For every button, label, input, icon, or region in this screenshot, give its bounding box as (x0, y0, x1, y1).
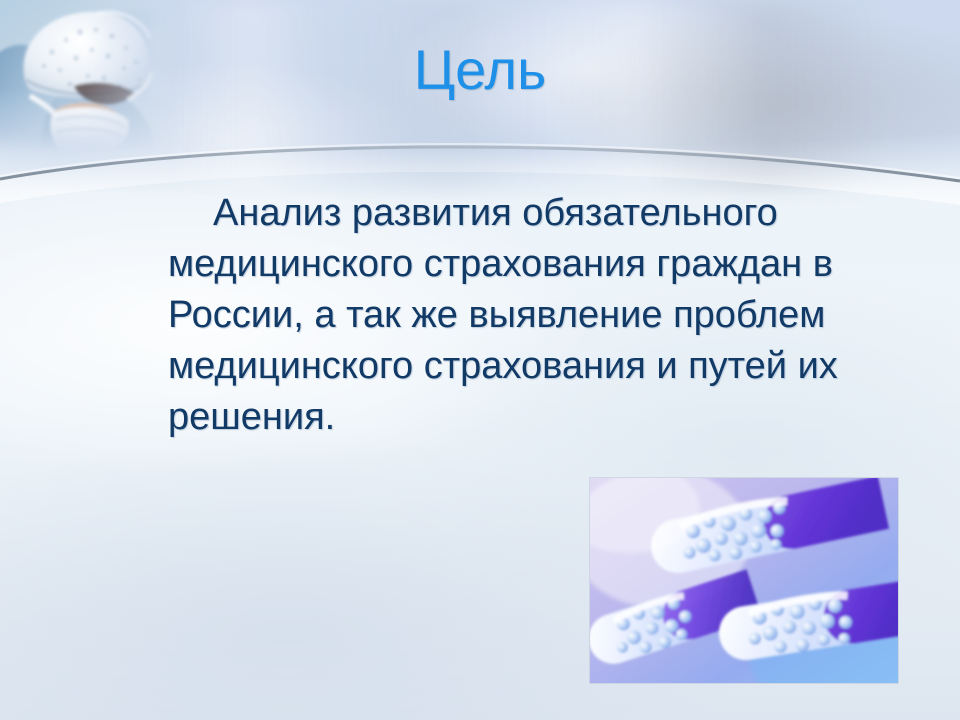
presentation-slide: Цель Анализ развития обязательного медиц… (0, 0, 960, 720)
slide-body-text: Анализ развития обязательного медицинско… (168, 188, 908, 443)
capsules-photo (590, 478, 898, 683)
page-title: Цель (0, 42, 960, 98)
